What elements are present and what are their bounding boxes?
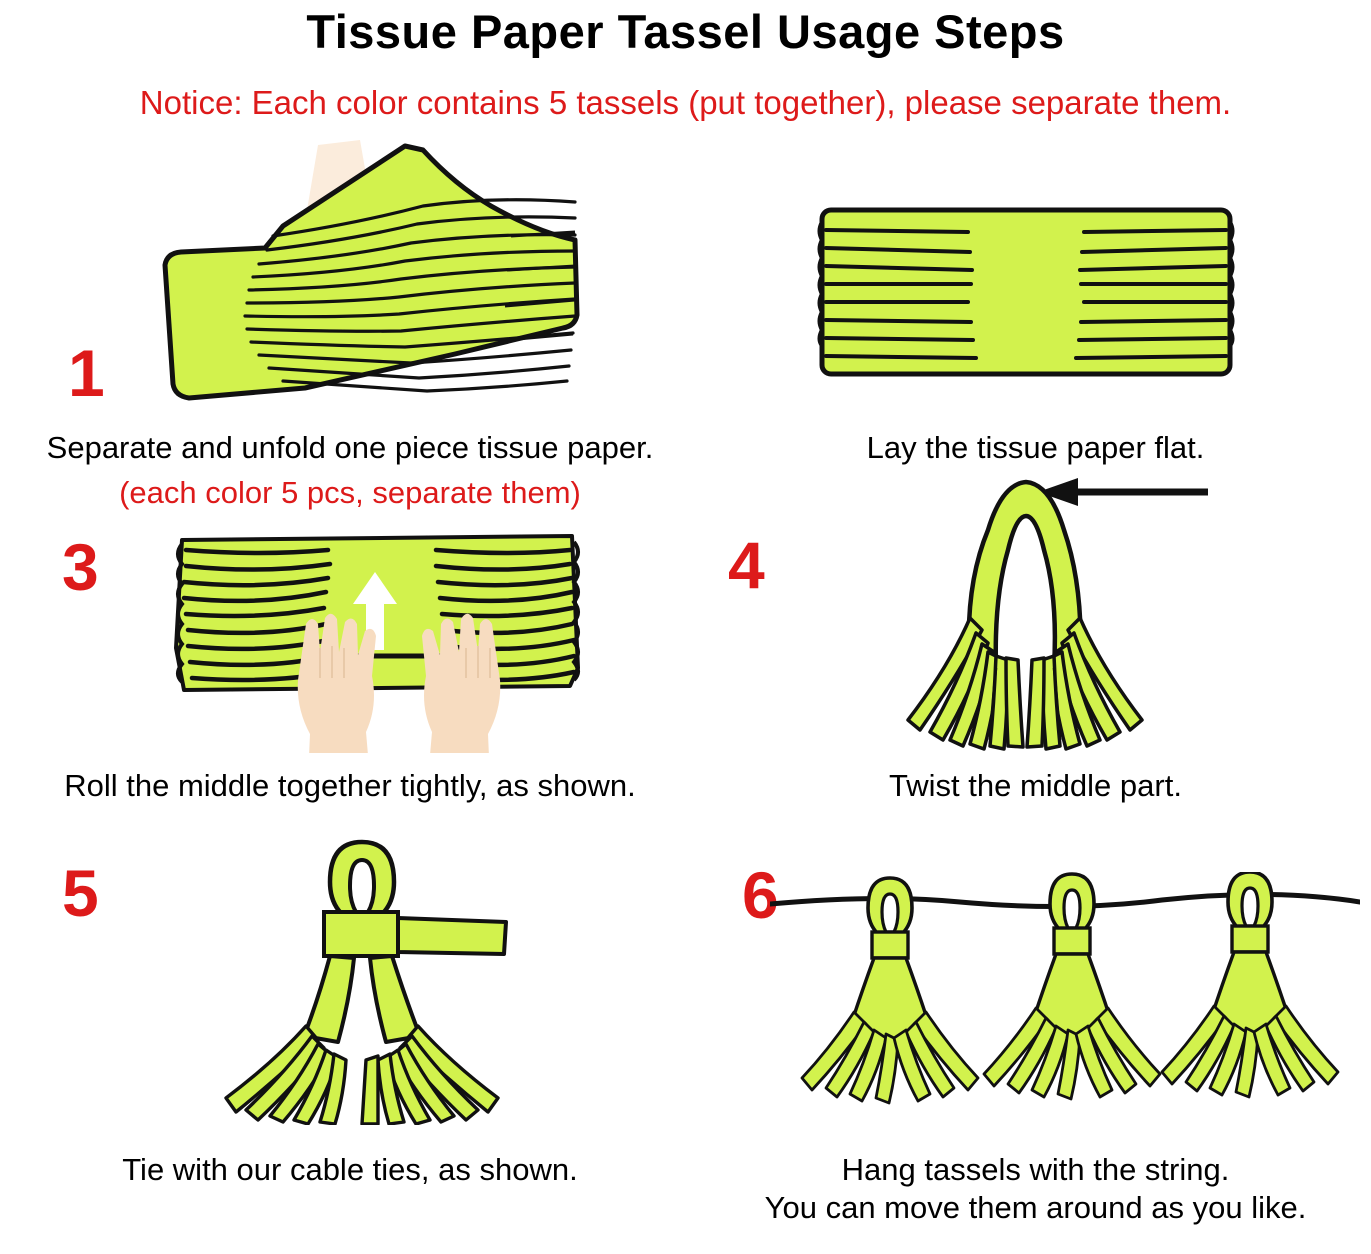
step-3-caption: Roll the middle together tightly, as sho… (0, 768, 700, 804)
step-1-illustration (155, 140, 585, 405)
step-1-caption: Separate and unfold one piece tissue pap… (0, 430, 700, 466)
step-3: 3 (0, 520, 700, 820)
page-title: Tissue Paper Tassel Usage Steps (0, 4, 1371, 59)
step-3-illustration (160, 528, 595, 753)
step-4-caption: Twist the middle part. (700, 768, 1371, 804)
step-5: 5 (0, 830, 700, 1250)
step-4: 4 (700, 460, 1371, 820)
step-2-illustration (816, 202, 1236, 382)
step-5-caption: Tie with our cable ties, as shown. (0, 1152, 700, 1188)
step-6-caption-line2: You can move them around as you like. (700, 1190, 1371, 1226)
step-1: 1 (0, 140, 700, 540)
step-6: 6 (700, 830, 1371, 1250)
step-4-illustration (878, 468, 1228, 758)
step-1-sub-caption: (each color 5 pcs, separate them) (0, 475, 700, 511)
step-number-5: 5 (62, 860, 99, 926)
step-number-3: 3 (62, 534, 99, 600)
step-6-illustration (770, 872, 1360, 1127)
step-6-caption: Hang tassels with the string. (700, 1152, 1371, 1188)
notice-text: Notice: Each color contains 5 tassels (p… (0, 84, 1371, 122)
step-5-illustration (218, 830, 508, 1125)
step-number-1: 1 (68, 340, 105, 406)
left-arrow-icon (1038, 478, 1208, 506)
step-number-4: 4 (728, 532, 765, 598)
